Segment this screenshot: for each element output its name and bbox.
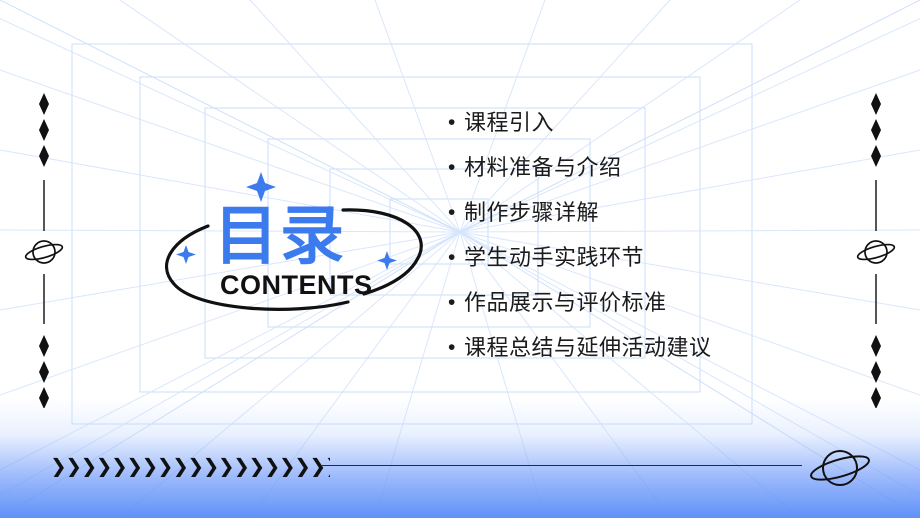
list-item-label: 作品展示与评价标准 (464, 288, 667, 318)
list-item-label: 学生动手实践环节 (464, 243, 644, 273)
list-bullet-icon: • (448, 333, 464, 363)
list-item[interactable]: • 课程引入 (448, 108, 868, 138)
diamond-icon (871, 387, 881, 408)
diamond-icon (39, 93, 49, 115)
diamond-icon (871, 119, 881, 141)
diamond-icon (871, 145, 881, 167)
toc-list: • 课程引入 • 材料准备与介绍 • 制作步骤详解 • 学生动手实践环节 • 作… (448, 108, 868, 378)
diamond-icon (39, 335, 49, 357)
list-item[interactable]: • 学生动手实践环节 (448, 243, 868, 273)
saturn-icon-bottom (800, 440, 880, 500)
list-item-label: 课程引入 (464, 108, 554, 138)
list-item-label: 课程总结与延伸活动建议 (464, 333, 712, 363)
diamond-icon (871, 93, 881, 115)
list-bullet-icon: • (448, 108, 464, 138)
list-bullet-icon: • (448, 243, 464, 273)
list-item[interactable]: • 材料准备与介绍 (448, 153, 868, 183)
list-bullet-icon: • (448, 153, 464, 183)
list-item[interactable]: • 制作步骤详解 (448, 198, 868, 228)
list-item[interactable]: • 作品展示与评价标准 (448, 288, 868, 318)
diamond-icon (39, 361, 49, 383)
list-item-label: 制作步骤详解 (464, 198, 599, 228)
page-title-english: CONTENTS (220, 270, 373, 300)
saturn-icon (24, 241, 64, 263)
diamond-icon (39, 387, 49, 408)
diamond-group-top (871, 93, 881, 167)
list-item-label: 材料准备与介绍 (464, 153, 622, 183)
page-title-chinese: 目录 (214, 204, 346, 268)
saturn-icon (856, 241, 896, 263)
diamond-icon (871, 335, 881, 357)
diamond-group-top (39, 93, 49, 167)
title-block: 目录 CONTENTS (150, 190, 450, 320)
diamond-icon (39, 119, 49, 141)
side-ornament-right (846, 88, 906, 408)
list-bullet-icon: • (448, 198, 464, 228)
diamond-icon (39, 145, 49, 167)
diamond-group-bottom (871, 335, 881, 408)
chevron-arrow-strip: ❯❯❯❯❯❯❯❯❯❯❯❯❯❯❯❯❯❯❯❯❯❯❯❯ (50, 455, 330, 477)
diamond-icon (871, 361, 881, 383)
slide-canvas: 目录 CONTENTS • 课程引入 • 材料准备与介绍 • 制作步骤详解 (0, 0, 920, 518)
diamond-group-bottom (39, 335, 49, 408)
bottom-rule-line (322, 465, 802, 466)
side-ornament-left (14, 88, 74, 408)
list-item[interactable]: • 课程总结与延伸活动建议 (448, 333, 868, 363)
list-bullet-icon: • (448, 288, 464, 318)
